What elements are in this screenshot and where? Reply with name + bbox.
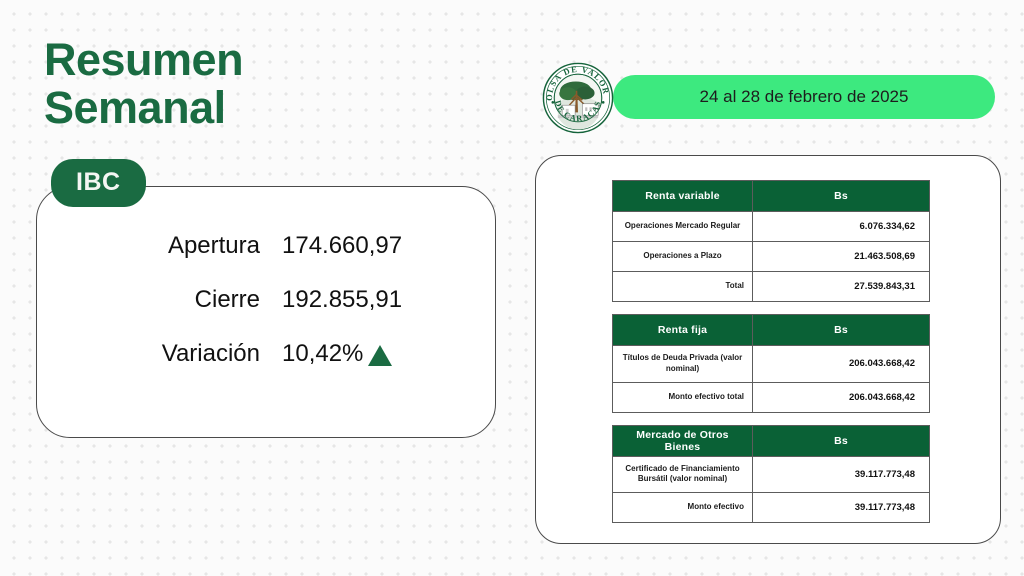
- table-renta-variable: Renta variable Bs Operaciones Mercado Re…: [612, 180, 930, 302]
- table-row: Total 27.539.843,31: [613, 272, 930, 302]
- table-header-row: Mercado de Otros Bienes Bs: [613, 425, 930, 456]
- table-row: Operaciones a Plazo 21.463.508,69: [613, 242, 930, 272]
- table-mercado-otros-bienes: Mercado de Otros Bienes Bs Certificado d…: [612, 425, 930, 524]
- row-value: 6.076.334,62: [753, 212, 930, 242]
- page-title: Resumen Semanal: [44, 36, 484, 132]
- ibc-value-apertura-text: 174.660,97: [282, 232, 402, 260]
- row-label-total: Monto efectivo total: [613, 382, 753, 412]
- table-row: Títulos de Deuda Privada (valor nominal)…: [613, 346, 930, 383]
- table-row: Monto efectivo 39.117.773,48: [613, 493, 930, 523]
- row-label: Operaciones a Plazo: [613, 242, 753, 272]
- ibc-value-cierre: 192.855,91: [282, 286, 402, 314]
- row-value: 206.043.668,42: [753, 346, 930, 383]
- ibc-row-cierre: Cierre 192.855,91: [36, 286, 496, 314]
- ibc-row-apertura: Apertura 174.660,97: [36, 232, 496, 260]
- ibc-value-variacion: 10,42%: [282, 340, 392, 368]
- ibc-label-variacion: Variación: [36, 340, 282, 368]
- row-label-total: Total: [613, 272, 753, 302]
- page-title-line-2: Semanal: [44, 84, 484, 132]
- date-range-pill: 24 al 28 de febrero de 2025: [613, 75, 995, 119]
- ibc-label-cierre: Cierre: [36, 286, 282, 314]
- table-renta-fija: Renta fija Bs Títulos de Deuda Privada (…: [612, 314, 930, 413]
- table-header-label: Renta variable: [613, 181, 753, 212]
- table-header-row: Renta fija Bs: [613, 315, 930, 346]
- table-header-row: Renta variable Bs: [613, 181, 930, 212]
- table-row: Monto efectivo total 206.043.668,42: [613, 382, 930, 412]
- table-row: Operaciones Mercado Regular 6.076.334,62: [613, 212, 930, 242]
- ibc-metrics-list: Apertura 174.660,97 Cierre 192.855,91 Va…: [36, 186, 496, 438]
- row-value-total: 27.539.843,31: [753, 272, 930, 302]
- row-label-total: Monto efectivo: [613, 493, 753, 523]
- ibc-label-apertura: Apertura: [36, 232, 282, 260]
- ibc-value-variacion-text: 10,42%: [282, 340, 363, 368]
- date-range-label: 24 al 28 de febrero de 2025: [700, 87, 909, 107]
- ibc-value-apertura: 174.660,97: [282, 232, 402, 260]
- row-label: Operaciones Mercado Regular: [613, 212, 753, 242]
- page-title-line-1: Resumen: [44, 36, 484, 84]
- table-header-label: Renta fija: [613, 315, 753, 346]
- trend-up-triangle-icon: [368, 345, 392, 366]
- table-header-currency: Bs: [753, 425, 930, 456]
- row-value: 21.463.508,69: [753, 242, 930, 272]
- ibc-row-variacion: Variación 10,42%: [36, 340, 496, 368]
- table-header-currency: Bs: [753, 315, 930, 346]
- row-label: Certificado de Financiamiento Bursátil (…: [613, 456, 753, 493]
- bolsa-de-valores-de-caracas-logo-icon: BOLSA DE VALORES DE CARACAS: [542, 62, 614, 134]
- row-value-total: 206.043.668,42: [753, 382, 930, 412]
- table-row: Certificado de Financiamiento Bursátil (…: [613, 456, 930, 493]
- table-header-label: Mercado de Otros Bienes: [613, 425, 753, 456]
- row-value-total: 39.117.773,48: [753, 493, 930, 523]
- ibc-badge: IBC: [51, 159, 146, 207]
- table-header-currency: Bs: [753, 181, 930, 212]
- ibc-value-cierre-text: 192.855,91: [282, 286, 402, 314]
- tables-container: Renta variable Bs Operaciones Mercado Re…: [612, 180, 929, 535]
- row-value: 39.117.773,48: [753, 456, 930, 493]
- row-label: Títulos de Deuda Privada (valor nominal): [613, 346, 753, 383]
